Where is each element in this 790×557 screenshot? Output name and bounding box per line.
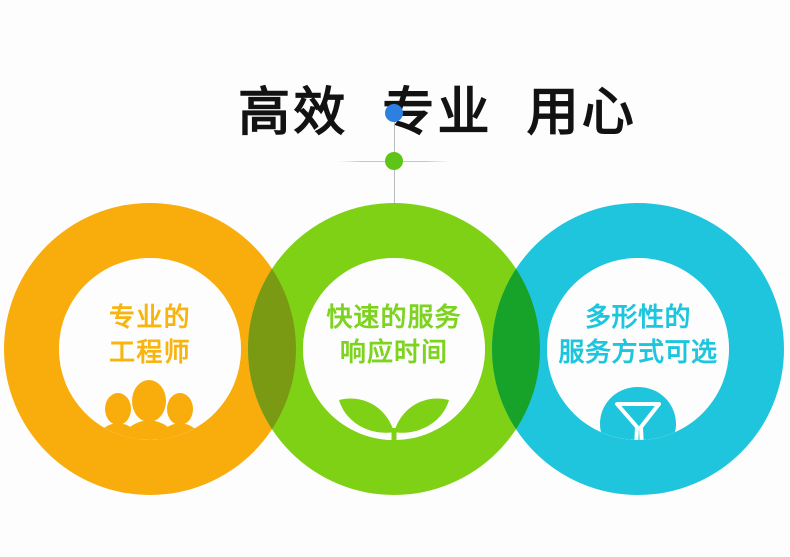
circle-flexible-label: 多形性的 服务方式可选 — [516, 301, 760, 371]
venn-diagram — [0, 0, 790, 557]
circle-response-label: 快速的服务 响应时间 — [278, 301, 510, 371]
circle-engineer-label: 专业的 工程师 — [40, 301, 260, 371]
venn-rings-svg — [0, 0, 790, 557]
poster-canvas: 高效专业用心 — [0, 0, 790, 557]
